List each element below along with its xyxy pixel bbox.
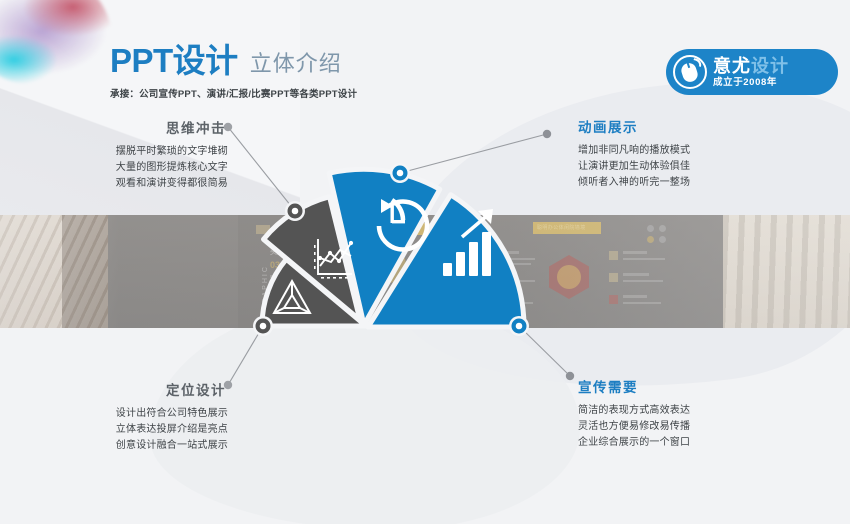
callout-animation-display: 动画展示 增加非同凡响的播放模式 让演讲更加生动体验俱佳 倾听者入神的听完一整场 (578, 121, 768, 191)
callout-body: 摆脱平时繁琐的文字堆砌 大量的图形提炼核心文字 观看和演讲变得都很简易 (58, 144, 228, 192)
callout-heading: 定位设计 (58, 384, 226, 398)
callout-heading: 动画展示 (578, 121, 768, 135)
callout-positioning-design: 定位设计 设计出符合公司特色展示 立体表达投屏介绍是亮点 创意设计融合一站式展示 (58, 384, 228, 454)
callout-body: 设计出符合公司特色展示 立体表达投屏介绍是亮点 创意设计融合一站式展示 (58, 406, 228, 454)
callout-promotion-needs: 宣传需要 简洁的表现方式高效表达 灵活也方便易修改易传播 企业综合展示的一个窗口 (578, 381, 768, 451)
connector-endpoint-dot (566, 372, 574, 380)
connector-bottom-right (519, 326, 570, 376)
callout-heading: 宣传需要 (578, 381, 768, 395)
connector-top-right (400, 134, 547, 173)
connector-top-left (228, 127, 295, 211)
slide-canvas: 聪明办公体闲院墙境 头图午皮 03 GRAPHIC 聪明办公体闲院墙境 (0, 0, 850, 524)
callout-thinking-impact: 思维冲击 摆脱平时繁琐的文字堆砌 大量的图形提炼核心文字 观看和演讲变得都很简易 (58, 122, 228, 192)
callout-body: 增加非同凡响的播放模式 让演讲更加生动体验俱佳 倾听者入神的听完一整场 (578, 143, 768, 191)
callout-heading: 思维冲击 (58, 122, 226, 136)
connector-endpoint-dot (543, 130, 551, 138)
callout-body: 简洁的表现方式高效表达 灵活也方便易修改易传播 企业综合展示的一个窗口 (578, 403, 768, 451)
connector-bottom-left (228, 326, 263, 385)
